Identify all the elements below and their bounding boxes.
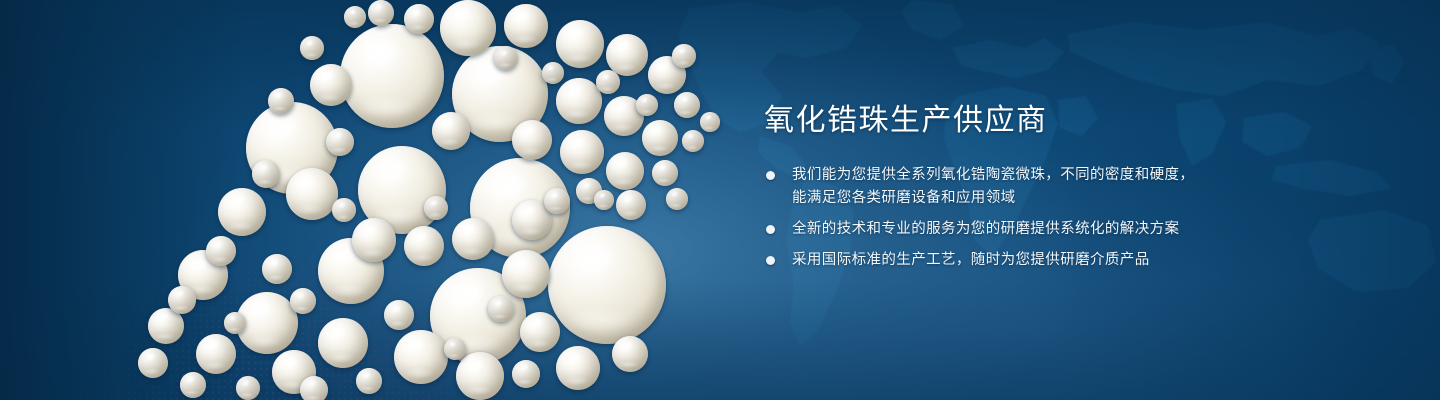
feature-bullet-list: 我们能为您提供全系列氧化锆陶瓷微珠，不同的密度和硬度， 能满足您各类研磨设备和应… <box>762 164 1322 272</box>
bullet-dot-icon <box>766 225 775 234</box>
banner-headline: 氧化锆珠生产供应商 <box>764 104 1322 138</box>
feature-bullet-line: 能满足您各类研磨设备和应用领域 <box>792 187 1322 210</box>
feature-bullet-line: 全新的技术和专业的服务为您的研磨提供系统化的解决方案 <box>792 218 1322 241</box>
feature-bullet-item: 我们能为您提供全系列氧化锆陶瓷微珠，不同的密度和硬度， 能满足您各类研磨设备和应… <box>762 164 1322 210</box>
feature-bullet-line: 我们能为您提供全系列氧化锆陶瓷微珠，不同的密度和硬度， <box>792 164 1322 187</box>
bullet-dot-icon <box>766 171 775 180</box>
hero-banner: 氧化锆珠生产供应商 我们能为您提供全系列氧化锆陶瓷微珠，不同的密度和硬度， 能满… <box>0 0 1440 400</box>
bullet-dot-icon <box>766 256 775 265</box>
feature-bullet-item: 全新的技术和专业的服务为您的研磨提供系统化的解决方案 <box>762 218 1322 241</box>
feature-bullet-line: 采用国际标准的生产工艺，随时为您提供研磨介质产品 <box>792 249 1322 272</box>
feature-bullet-item: 采用国际标准的生产工艺，随时为您提供研磨介质产品 <box>762 249 1322 272</box>
banner-copy: 氧化锆珠生产供应商 我们能为您提供全系列氧化锆陶瓷微珠，不同的密度和硬度， 能满… <box>762 104 1322 272</box>
